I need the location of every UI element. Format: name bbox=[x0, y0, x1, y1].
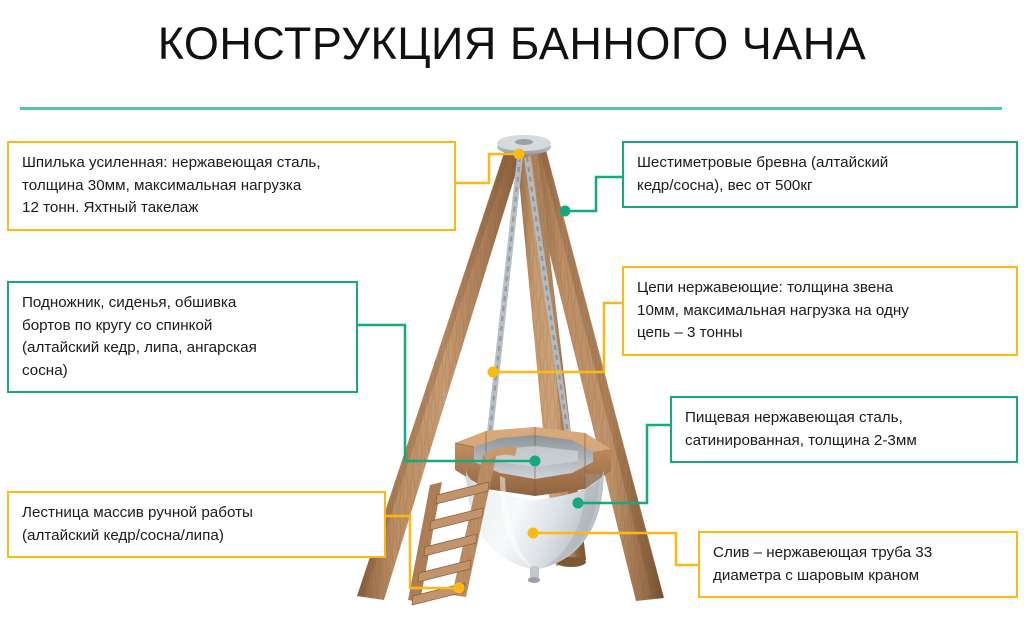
callout-chains-line-3: цепь – 3 тонны bbox=[637, 322, 1004, 345]
callout-ladder[interactable]: Лестница массив ручной работы (алтайский… bbox=[7, 491, 386, 558]
callout-seating[interactable]: Подножник, сиденья, обшивка бортов по кр… bbox=[7, 281, 358, 393]
callout-logs[interactable]: Шестиметровые бревна (алтайский кедр/сос… bbox=[622, 141, 1018, 208]
callout-ladder-line-1: Лестница массив ручной работы bbox=[22, 502, 372, 525]
callout-logs-line-1: Шестиметровые бревна (алтайский bbox=[637, 152, 1004, 175]
callout-stud-line-2: толщина 30мм, максимальная нагрузка bbox=[22, 175, 442, 198]
callout-seating-line-2: бортов по кругу со спинкой bbox=[22, 315, 344, 338]
callout-stud[interactable]: Шпилька усиленная: нержавеющая сталь, то… bbox=[7, 141, 456, 231]
callout-drain-line-1: Слив – нержавеющая труба 33 bbox=[713, 542, 1004, 565]
callout-seating-line-4: сосна) bbox=[22, 360, 344, 383]
infographic-canvas: КОНСТРУКЦИЯ БАННОГО ЧАНА bbox=[0, 0, 1024, 623]
callout-drain[interactable]: Слив – нержавеющая труба 33 диаметра с ш… bbox=[698, 531, 1018, 598]
callout-drain-line-2: диаметра с шаровым краном bbox=[713, 565, 1004, 588]
callout-seating-line-3: (алтайский кедр, липа, ангарская bbox=[22, 337, 344, 360]
callout-logs-line-2: кедр/сосна), вес от 500кг bbox=[637, 175, 1004, 198]
callout-chains[interactable]: Цепи нержавеющие: толщина звена 10мм, ма… bbox=[622, 266, 1018, 356]
top-metal-cap bbox=[497, 135, 551, 155]
callout-steel-bowl-line-2: сатинированная, толщина 2-3мм bbox=[685, 430, 1004, 453]
callout-ladder-line-2: (алтайский кедр/сосна/липа) bbox=[22, 525, 372, 548]
callout-chains-line-1: Цепи нержавеющие: толщина звена bbox=[637, 277, 1004, 300]
callout-chains-line-2: 10мм, максимальная нагрузка на одну bbox=[637, 300, 1004, 323]
callout-stud-line-3: 12 тонн. Яхтный такелаж bbox=[22, 197, 442, 220]
callout-steel-bowl-line-1: Пищевая нержавеющая сталь, bbox=[685, 407, 1004, 430]
callout-seating-line-1: Подножник, сиденья, обшивка bbox=[22, 292, 344, 315]
callout-stud-line-1: Шпилька усиленная: нержавеющая сталь, bbox=[22, 152, 442, 175]
callout-steel-bowl[interactable]: Пищевая нержавеющая сталь, сатинированна… bbox=[670, 396, 1018, 463]
